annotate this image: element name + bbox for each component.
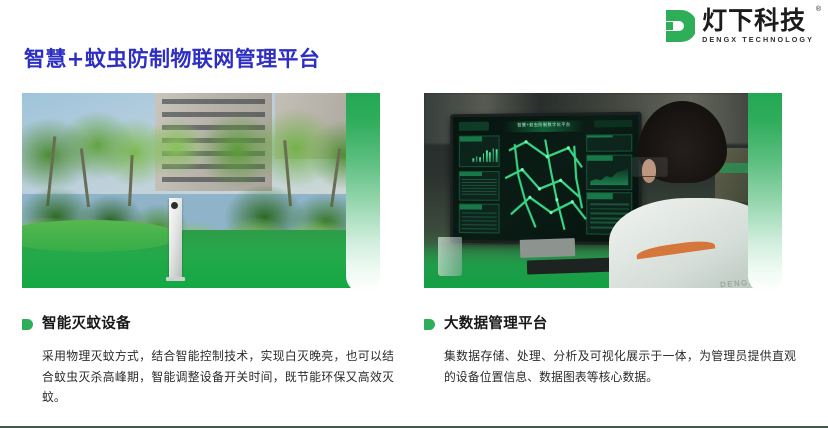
dashboard-list-panel — [458, 170, 499, 200]
brand-logo: 灯下科技 ® DENGX TECHNOLOGY — [665, 8, 814, 45]
list-rows — [461, 211, 496, 231]
office-scene: 智慧+蚊虫防制数字化平台 — [424, 93, 766, 288]
column-smart-mosquito-device: 智能灭蚊设备 采用物理灭蚊方式，结合智能控制技术，实现白灭晚亮，也可以结合蚊虫灭… — [22, 93, 412, 298]
list-rows — [461, 178, 496, 197]
brand-name-en: DENGX TECHNOLOGY — [702, 35, 814, 45]
panel-header — [459, 205, 482, 210]
map-network-icon — [498, 130, 594, 238]
panel-header — [459, 171, 482, 175]
device-location-map — [498, 130, 594, 238]
drinking-cup — [438, 237, 462, 276]
dashboard-bar-chart-panel — [458, 135, 499, 167]
column-big-data-platform: 智慧+蚊虫防制数字化平台 — [424, 93, 814, 298]
garden-scene — [22, 93, 364, 288]
page-title: 智慧+蚊虫防制物联网管理平台 — [24, 46, 320, 72]
photo-row — [22, 93, 412, 298]
registered-mark-icon: ® — [816, 6, 821, 13]
green-accent-bar — [346, 93, 380, 293]
operator-dashboard-photo: 智慧+蚊虫防制数字化平台 — [424, 93, 766, 288]
garden-device-photo — [22, 93, 364, 288]
mosquito-trap-device — [169, 198, 182, 278]
caption-heading: 智能灭蚊设备 — [42, 315, 131, 333]
person-shirt: DENGX — [609, 198, 766, 288]
shirt-collar — [636, 239, 715, 260]
glasses-icon — [632, 157, 668, 177]
brand-name-cn: 灯下科技 — [702, 8, 814, 34]
lawn — [22, 230, 364, 289]
keyboard — [526, 257, 615, 274]
caption-heading-row: 大数据管理平台 — [424, 315, 802, 333]
caption-block: 大数据管理平台 集数据存储、处理、分析及可视化展示于一体，为管理员提供直观的设备… — [424, 315, 802, 387]
dashboard-logo — [458, 121, 489, 130]
green-bullet-icon — [424, 319, 435, 330]
bar-chart — [473, 144, 497, 162]
laptop — [519, 238, 574, 257]
caption-heading: 大数据管理平台 — [444, 315, 548, 333]
caption-body: 集数据存储、处理、分析及可视化展示于一体，为管理员提供直观的设备位置信息、数据图… — [444, 346, 796, 387]
green-bullet-icon — [22, 319, 33, 330]
operator-person: DENGX — [609, 101, 766, 288]
caption-block: 智能灭蚊设备 采用物理灭蚊方式，结合智能控制技术，实现白灭晚亮，也可以结合蚊虫灭… — [22, 315, 400, 408]
caption-heading-row: 智能灭蚊设备 — [22, 315, 400, 333]
dashboard-detail-panel — [458, 204, 499, 234]
dengx-d-logo-icon — [665, 9, 695, 43]
panel-header — [459, 136, 482, 141]
green-accent-bar — [748, 93, 782, 293]
brand-text-block: 灯下科技 ® DENGX TECHNOLOGY — [702, 8, 814, 45]
content-columns: 智能灭蚊设备 采用物理灭蚊方式，结合智能控制技术，实现白灭晚亮，也可以结合蚊虫灭… — [0, 93, 828, 413]
photo-row: 智慧+蚊虫防制数字化平台 — [424, 93, 814, 298]
caption-body: 采用物理灭蚊方式，结合智能控制技术，实现白灭晚亮，也可以结合蚊虫灭杀高峰期，智能… — [42, 346, 394, 408]
